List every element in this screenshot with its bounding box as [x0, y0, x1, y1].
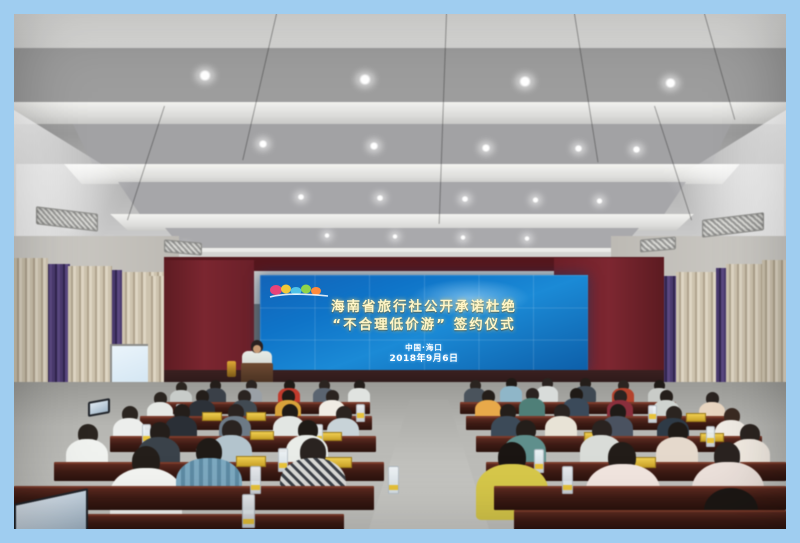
curtain [676, 272, 716, 386]
ceiling-downlight [596, 198, 603, 204]
water-bottle [388, 466, 399, 494]
water-bottle [706, 426, 715, 447]
led-title: 海南省旅行社公开承诺杜绝 “不合理低价游” 签约仪式 [260, 299, 588, 334]
ceiling-downlight [358, 74, 372, 85]
water-bottle [250, 466, 261, 494]
ceiling-lip-2 [50, 164, 754, 184]
water-bottle [242, 494, 255, 528]
ceiling-downlight [376, 195, 384, 201]
ceiling-downlight [198, 70, 212, 81]
ceiling-downlight [574, 145, 583, 152]
water-bottle [562, 466, 573, 494]
ceiling-downlight [518, 76, 532, 87]
flower-arrangement [227, 361, 236, 377]
water-bottle [356, 404, 365, 422]
curtain [762, 260, 786, 386]
photo-frame: 海南省旅行社公开承诺杜绝 “不合理低价游” 签约仪式 中国·海口 2018年9月… [0, 0, 800, 543]
ceiling-downlight [632, 146, 641, 153]
event-logo [268, 281, 330, 301]
led-title-line2: “不合理低价游” 签约仪式 [260, 316, 588, 334]
led-title-line1: 海南省旅行社公开承诺杜绝 [260, 299, 588, 316]
attendee [500, 386, 522, 402]
ceiling-downlight [481, 144, 491, 152]
name-placard [246, 412, 266, 421]
ceiling-downlight [369, 142, 379, 150]
ceiling-downlight [532, 197, 539, 203]
led-subtitle-date: 2018年9月6日 [260, 353, 588, 365]
ceiling-downlight [461, 196, 469, 202]
ceiling-downlight [392, 234, 398, 239]
name-placard [202, 412, 222, 421]
ceiling-panel-3 [100, 182, 704, 218]
name-placard [686, 413, 706, 422]
led-subtitle: 中国·海口 2018年9月6日 [260, 343, 588, 365]
ceiling-downlight [664, 78, 677, 88]
water-bottle [648, 405, 657, 423]
curtain [68, 266, 112, 386]
ceiling-downlight [524, 236, 530, 241]
led-video-wall: 海南省旅行社公开承诺杜绝 “不合理低价游” 签约仪式 中国·海口 2018年9月… [260, 275, 588, 372]
led-subtitle-location: 中国·海口 [260, 343, 588, 353]
desk-row-1 [514, 510, 786, 529]
attendee [519, 398, 545, 418]
curtain [14, 258, 48, 386]
ceiling-panel-1 [14, 48, 786, 104]
ceiling-front-strip [14, 14, 786, 48]
ceiling-lip-1 [14, 102, 786, 124]
ceiling-downlight [324, 233, 330, 238]
conference-hall-photograph: 海南省旅行社公开承诺杜绝 “不合理低价游” 签约仪式 中国·海口 2018年9月… [14, 14, 786, 529]
ceiling-downlight [460, 235, 466, 240]
name-placard [250, 431, 274, 440]
ceiling-downlight [258, 140, 268, 148]
ceiling-downlight [297, 194, 305, 200]
curtain [726, 264, 764, 386]
